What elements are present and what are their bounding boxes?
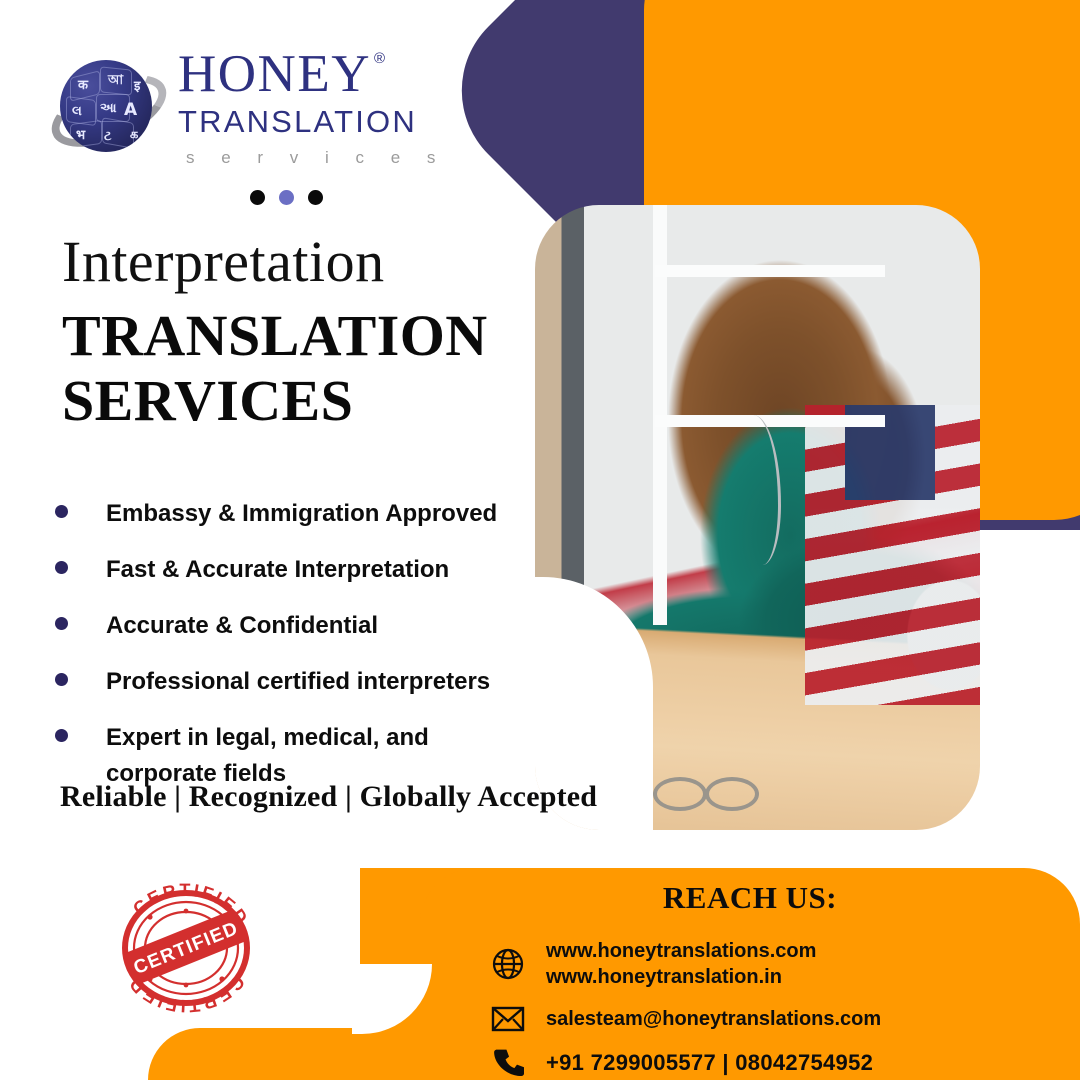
certified-stamp-icon: CERTIFIED CERTIFIED CERTIFIED [104, 872, 268, 1024]
tagline: Reliable | Recognized | Globally Accepte… [60, 780, 597, 814]
globe-icon [488, 947, 528, 981]
eyeglasses [653, 773, 771, 805]
us-flag-in-photo [805, 405, 980, 705]
bullet-dot-icon [55, 505, 68, 518]
logo-brand-secondary: TRANSLATION [178, 103, 446, 142]
phone-icon [488, 1047, 528, 1079]
bullet-dot-icon [55, 729, 68, 742]
contact-row-website[interactable]: www.honeytranslations.com www.honeytrans… [420, 938, 1080, 991]
hero-photo [535, 205, 980, 830]
bullet-dot-icon [55, 561, 68, 574]
envelope-icon [488, 1005, 528, 1033]
brand-logo[interactable]: क আ इ લ આ A भ ટ க HONEY ® TRANSLATION s … [52, 48, 472, 205]
globe-char: ટ [104, 130, 112, 143]
logo-brand-tertiary: s e r v i c e s [178, 148, 446, 168]
contact-section: REACH US: www.honeytranslations.com www.… [420, 880, 1080, 1080]
globe-char: A [124, 102, 137, 119]
headline-main-line-1: TRANSLATION [62, 303, 532, 369]
poster-canvas: क আ इ લ આ A भ ટ க HONEY ® TRANSLATION s … [0, 0, 1080, 1080]
shelf-board-upper [655, 265, 885, 277]
bullet-dot-icon [55, 617, 68, 630]
list-item-label: Fast & Accurate Interpretation [106, 552, 449, 588]
list-item-label: Professional certified interpreters [106, 664, 490, 700]
globe-char: આ [100, 102, 117, 115]
contact-heading: REACH US: [420, 880, 1080, 916]
logo-dot-3 [308, 190, 323, 205]
logo-dots [52, 190, 472, 205]
globe-sphere: क আ इ લ આ A भ ટ க [60, 60, 152, 152]
shelf-board-lower [655, 415, 885, 427]
page-title: Interpretation TRANSLATION SERVICES [62, 232, 532, 434]
headline-script-line: Interpretation [62, 232, 532, 293]
bullet-dot-icon [55, 673, 68, 686]
globe-char: আ [108, 74, 123, 87]
website-line-2[interactable]: www.honeytranslation.in [546, 964, 816, 990]
list-item: Accurate & Confidential [55, 608, 555, 644]
globe-char: क [78, 79, 88, 92]
headline-main-line-2: SERVICES [62, 368, 532, 434]
website-line-1[interactable]: www.honeytranslations.com [546, 938, 816, 964]
globe-char: લ [72, 105, 82, 118]
list-item: Professional certified interpreters [55, 664, 555, 700]
logo-dot-1 [250, 190, 265, 205]
registered-mark-icon: ® [374, 50, 385, 67]
contact-row-email[interactable]: salesteam@honeytranslations.com [420, 1005, 1080, 1033]
list-item-label: Accurate & Confidential [106, 608, 378, 644]
list-item: Embassy & Immigration Approved [55, 496, 555, 532]
list-item-label: Embassy & Immigration Approved [106, 496, 497, 532]
contact-row-phone[interactable]: +91 7299005577 | 08042754952 [420, 1047, 1080, 1079]
logo-brand-primary: HONEY [178, 48, 371, 101]
phone-number[interactable]: +91 7299005577 | 08042754952 [546, 1048, 873, 1077]
list-item: Fast & Accurate Interpretation [55, 552, 555, 588]
globe-char: भ [76, 129, 85, 142]
feature-list: Embassy & Immigration Approved Fast & Ac… [55, 496, 555, 812]
globe-char: க [130, 128, 138, 141]
globe-languages-icon: क আ इ લ આ A भ ટ க [52, 52, 164, 164]
globe-char: इ [134, 80, 140, 93]
email-address[interactable]: salesteam@honeytranslations.com [546, 1006, 881, 1032]
logo-dot-2 [279, 190, 294, 205]
